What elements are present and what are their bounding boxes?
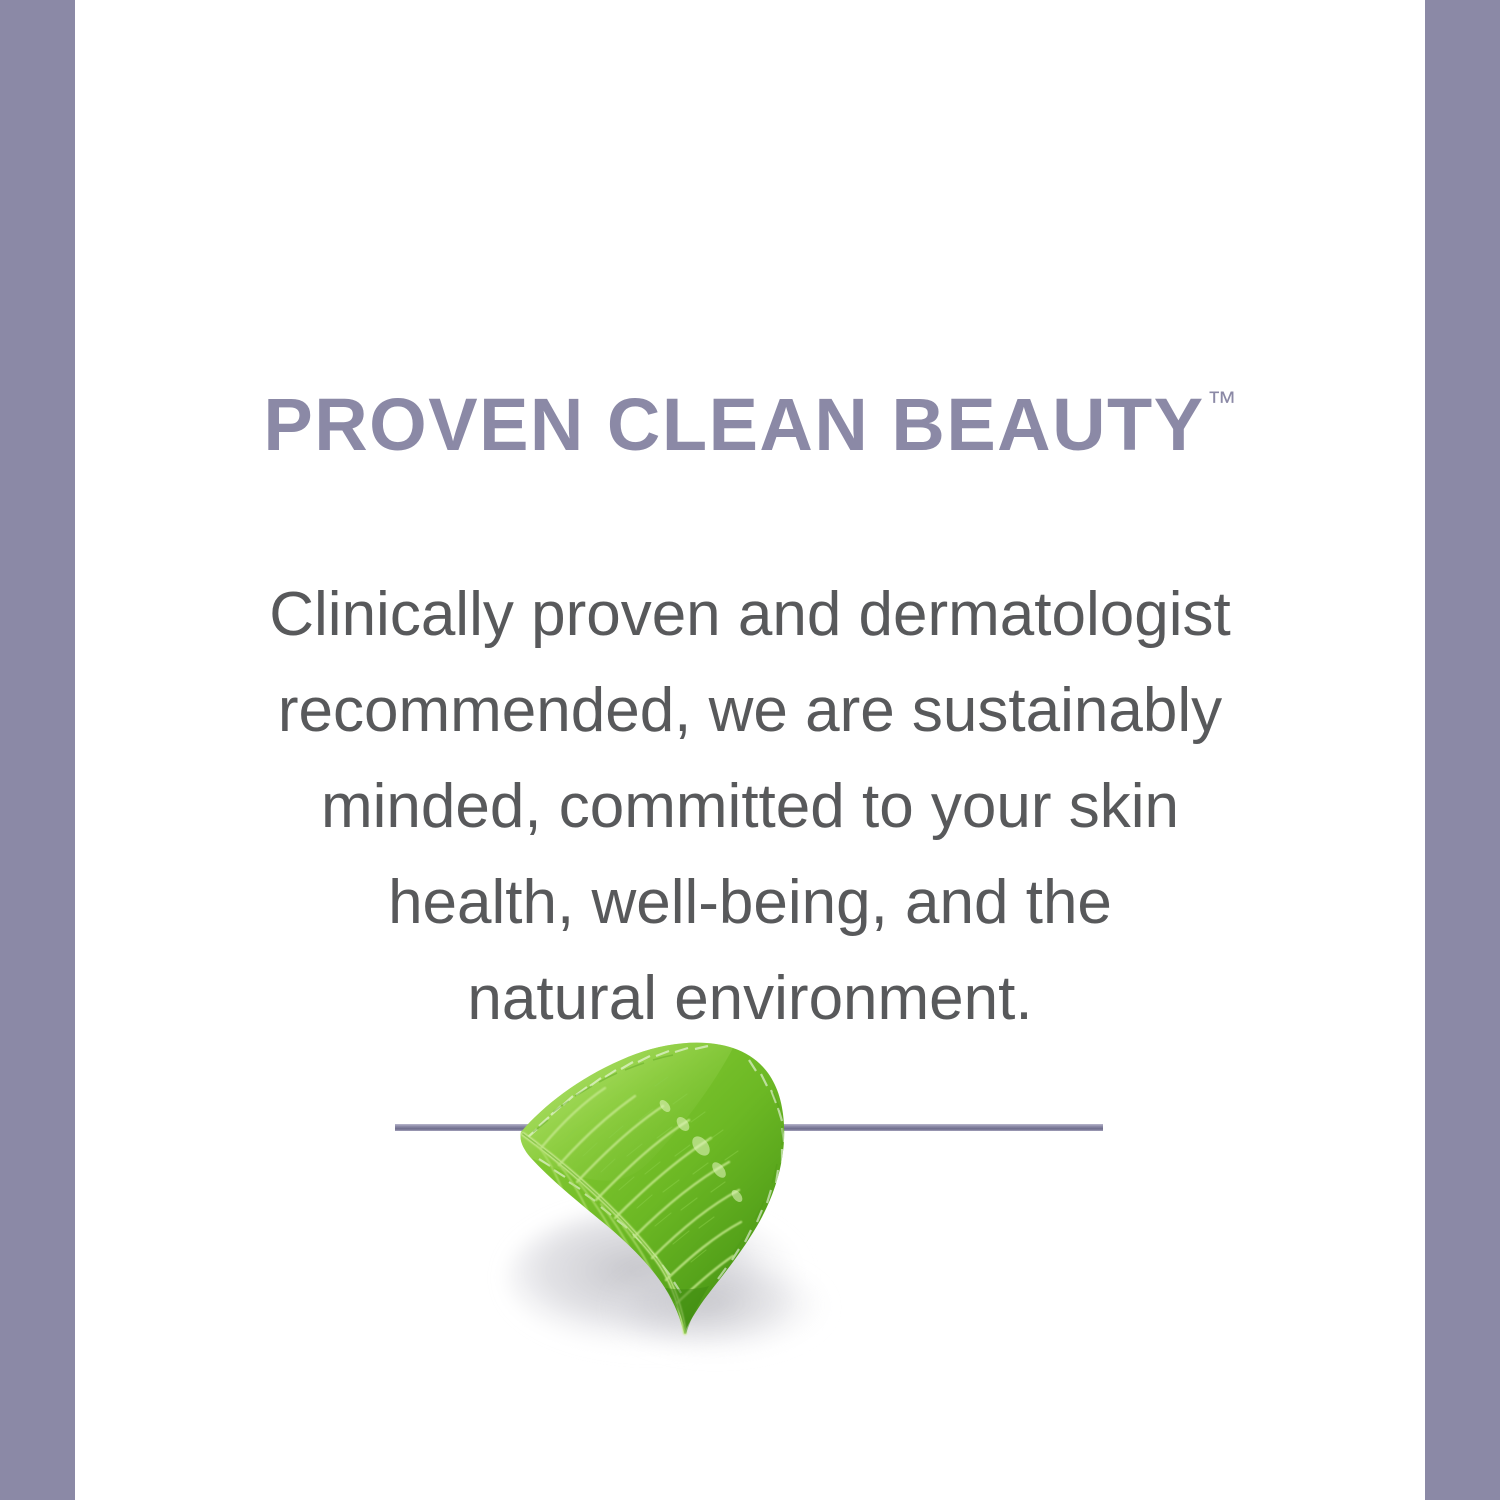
content-panel: PROVEN CLEAN BEAUTY™ Clinically proven a… xyxy=(75,0,1425,1500)
green-leaf-icon xyxy=(505,1020,865,1350)
body-line: Clinically proven and dermatologist xyxy=(205,567,1295,663)
left-border-bar xyxy=(0,0,75,1500)
poster-root: PROVEN CLEAN BEAUTY™ Clinically proven a… xyxy=(0,0,1500,1500)
body-line: recommended, we are sustainably xyxy=(205,663,1295,759)
page-title: PROVEN CLEAN BEAUTY™ xyxy=(75,388,1425,462)
trademark-symbol: ™ xyxy=(1207,386,1237,419)
body-line: minded, committed to your skin xyxy=(205,759,1295,855)
page-title-text: PROVEN CLEAN BEAUTY xyxy=(263,383,1204,466)
right-border-bar xyxy=(1425,0,1500,1500)
leaf-illustration xyxy=(75,1020,1425,1400)
body-line: health, well-being, and the xyxy=(205,855,1295,951)
leaf-emblem xyxy=(75,1020,1425,1400)
body-paragraph: Clinically proven and dermatologist reco… xyxy=(205,567,1295,1047)
